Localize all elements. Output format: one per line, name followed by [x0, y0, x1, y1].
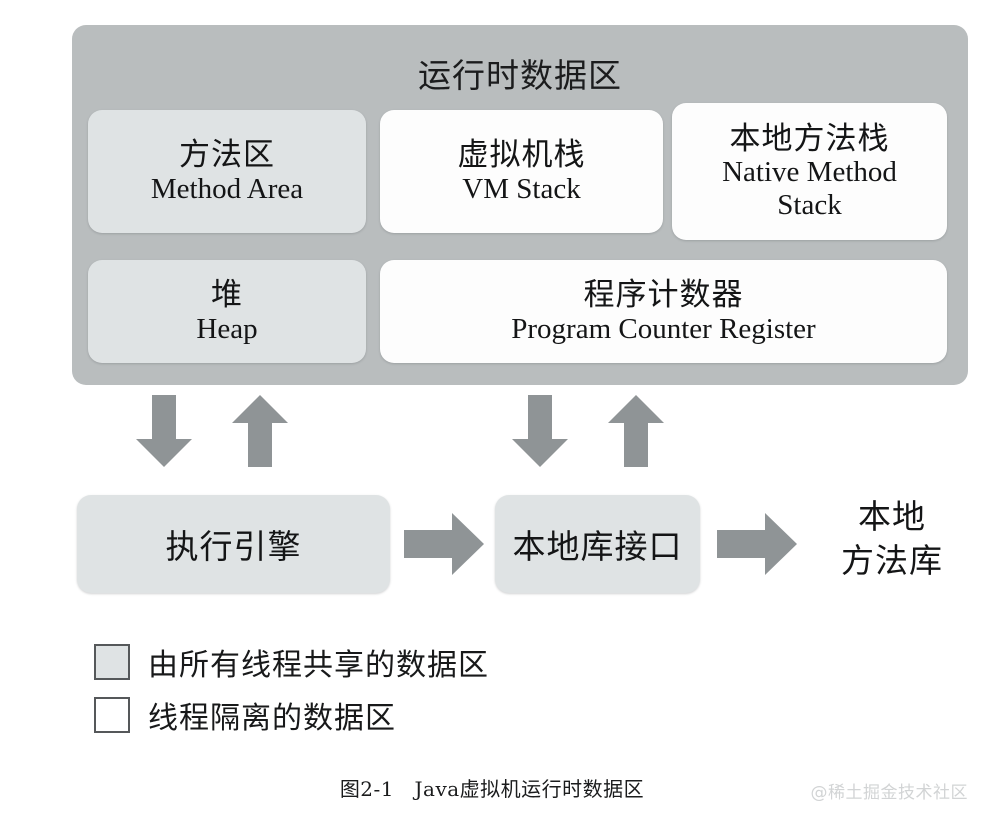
flow-box-execution-engine: 执行引擎: [77, 495, 390, 593]
memory-box-program-counter-register-en: Program Counter Register: [511, 313, 815, 345]
flow-box-execution-engine-label: 执行引擎: [166, 520, 302, 568]
memory-box-native-method-stack-en2: Stack: [777, 189, 841, 221]
runtime-data-area-title: 运行时数据区: [72, 59, 968, 92]
label-native-method-library: 本地 方法库: [812, 495, 972, 582]
legend-swatch-isolated-icon: [94, 697, 130, 733]
legend-swatch-shared-icon: [94, 644, 130, 680]
memory-box-method-area: 方法区 Method Area: [88, 110, 366, 233]
label-native-method-library-line2: 方法库: [812, 539, 972, 583]
memory-box-program-counter-register: 程序计数器 Program Counter Register: [380, 260, 947, 363]
legend-label-shared: 由所有线程共享的数据区: [148, 640, 489, 684]
flow-box-native-library-interface: 本地库接口: [495, 495, 700, 593]
memory-box-native-method-stack-en: Native Method: [722, 156, 897, 188]
legend: 由所有线程共享的数据区 线程隔离的数据区: [94, 640, 489, 746]
memory-box-method-area-en: Method Area: [151, 173, 303, 205]
memory-box-native-method-stack: 本地方法栈 Native Method Stack: [672, 103, 947, 240]
legend-label-isolated: 线程隔离的数据区: [148, 693, 396, 737]
flow-box-native-library-interface-label: 本地库接口: [513, 520, 683, 568]
memory-box-method-area-cn: 方法区: [179, 138, 275, 173]
arrow-up-icon-right: [608, 395, 664, 467]
arrow-down-icon-left: [136, 395, 192, 467]
arrow-right-icon-interface-to-library: [717, 513, 797, 575]
memory-box-native-method-stack-cn: 本地方法栈: [730, 122, 890, 157]
arrow-down-icon-right: [512, 395, 568, 467]
memory-box-vm-stack: 虚拟机栈 VM Stack: [380, 110, 663, 233]
arrow-right-icon-engine-to-interface: [404, 513, 484, 575]
memory-box-program-counter-register-cn: 程序计数器: [584, 278, 744, 313]
arrow-up-icon-left: [232, 395, 288, 467]
watermark: @稀土掘金技术社区: [811, 778, 969, 803]
memory-box-vm-stack-cn: 虚拟机栈: [458, 138, 586, 173]
memory-box-vm-stack-en: VM Stack: [462, 173, 580, 205]
memory-box-heap: 堆 Heap: [88, 260, 366, 363]
label-native-method-library-line1: 本地: [812, 495, 972, 539]
legend-item-shared: 由所有线程共享的数据区: [94, 640, 489, 684]
memory-box-heap-cn: 堆: [211, 278, 243, 313]
memory-box-heap-en: Heap: [196, 313, 257, 345]
legend-item-isolated: 线程隔离的数据区: [94, 693, 489, 737]
